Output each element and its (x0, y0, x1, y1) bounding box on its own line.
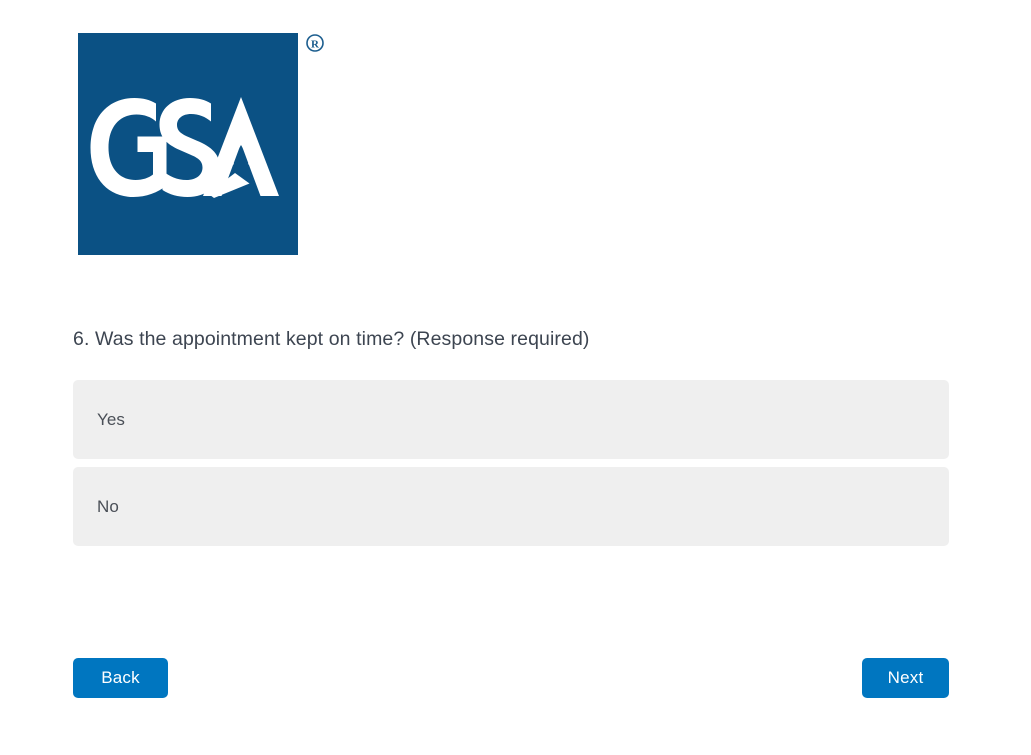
answer-option-yes[interactable]: Yes (73, 380, 949, 459)
answer-options-list: Yes No (73, 380, 949, 554)
gsa-logo: R (78, 33, 320, 255)
answer-option-no[interactable]: No (73, 467, 949, 546)
survey-navigation: Back Next (73, 658, 949, 698)
answer-option-label: No (97, 497, 119, 517)
back-button[interactable]: Back (73, 658, 168, 698)
answer-option-label: Yes (97, 410, 125, 430)
registered-trademark-icon: R (305, 33, 325, 53)
survey-question-text: 6. Was the appointment kept on time? (Re… (73, 326, 589, 352)
gsa-logo-mark (78, 33, 298, 255)
svg-text:R: R (311, 38, 320, 50)
next-button[interactable]: Next (862, 658, 949, 698)
